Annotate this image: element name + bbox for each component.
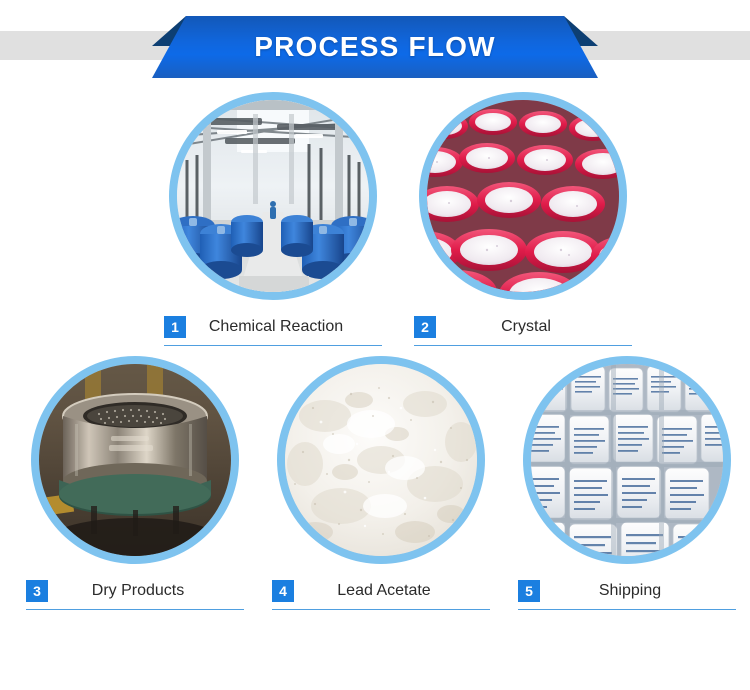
step-caption-4: 4 Lead Acetate [272,580,490,610]
photo-ring-4 [277,356,485,564]
process-step-4: 4 Lead Acetate [258,356,504,610]
dry-products-photo [39,364,231,556]
lead-acetate-photo [285,364,477,556]
step-number-badge-5: 5 [518,580,540,602]
process-step-1: 1 Chemical Reaction [148,92,398,346]
step-label-4: Lead Acetate [294,582,490,600]
process-step-2: 2 Crystal [398,92,648,346]
title-ribbon: PROCESS FLOW [152,16,598,78]
crystal-photo [427,100,619,292]
photo-ring-1 [169,92,377,300]
photo-ring-2 [419,92,627,300]
page-title: PROCESS FLOW [152,16,598,78]
step-number-badge-1: 1 [164,316,186,338]
step-caption-3: 3 Dry Products [26,580,244,610]
photo-ring-3 [31,356,239,564]
chemical-reaction-illustration [177,100,369,292]
shipping-illustration [531,364,723,556]
step-number-badge-2: 2 [414,316,436,338]
step-number-badge-3: 3 [26,580,48,602]
step-caption-1: 1 Chemical Reaction [164,316,382,346]
process-step-3: 3 Dry Products [12,356,258,610]
banner-section: PROCESS FLOW [0,0,750,92]
crystal-illustration [427,100,619,292]
step-caption-5: 5 Shipping [518,580,736,610]
photo-ring-5 [523,356,731,564]
chemical-reaction-photo [177,100,369,292]
step-label-1: Chemical Reaction [186,318,382,336]
step-caption-2: 2 Crystal [414,316,632,346]
lead-acetate-illustration [285,364,477,556]
step-number-badge-4: 4 [272,580,294,602]
shipping-photo [531,364,723,556]
step-label-5: Shipping [540,582,736,600]
process-row-bottom: 3 Dry Products [0,356,750,610]
step-label-3: Dry Products [48,582,244,600]
process-row-top: 1 Chemical Reaction [0,92,750,346]
dry-products-illustration [39,364,231,556]
process-step-5: 5 Shipping [504,356,750,610]
step-label-2: Crystal [436,318,632,336]
